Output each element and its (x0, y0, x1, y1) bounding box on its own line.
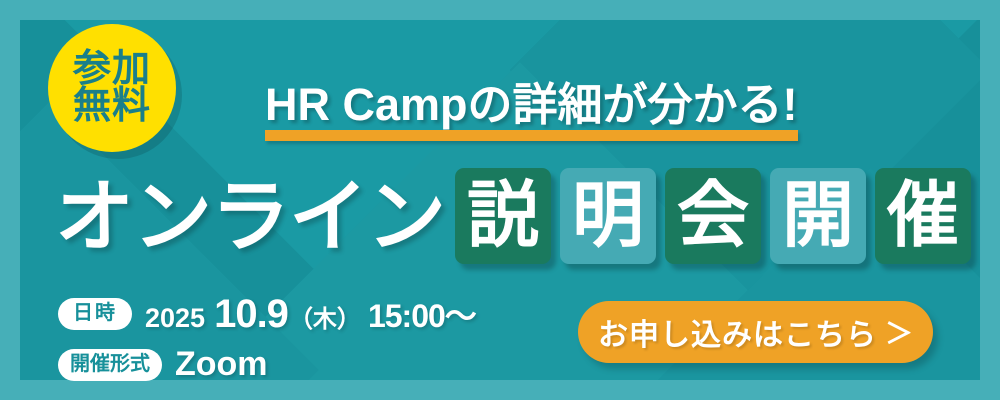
kanji-box-kai: 会 (665, 168, 761, 264)
main-title-kanji-boxes: 説 明 会 開 催 (455, 168, 971, 264)
main-title-plain-text: オンライン (55, 177, 445, 256)
event-info-block: 日時 2025 10.9 （木） 15:00〜 開催形式 Zoom (58, 291, 476, 392)
apply-now-button[interactable]: お申し込みはこちら ＞ (578, 301, 933, 363)
apply-now-button-label: お申し込みはこちら (598, 310, 877, 354)
free-participation-badge: 参加 無料 (48, 24, 176, 152)
datetime-label-pill: 日時 (58, 298, 132, 330)
kanji-box-sai: 催 (875, 168, 971, 264)
headline-container: HR Campの詳細が分かる! (265, 68, 798, 137)
event-year: 2025 (145, 303, 205, 334)
datetime-value: 2025 10.9 （木） 15:00〜 (145, 291, 476, 337)
format-label-pill: 開催形式 (58, 349, 162, 381)
chevron-right-icon: ＞ (885, 312, 913, 352)
event-date: 10.9 (214, 292, 288, 337)
free-badge-line-1: 参加 (73, 51, 151, 88)
headline-underline (265, 130, 798, 141)
event-format-row: 開催形式 Zoom (58, 345, 476, 384)
event-day-of-week: （木） (289, 299, 361, 334)
promo-banner: 参加 無料 HR Campの詳細が分かる! オンライン 説 明 会 開 催 日時… (0, 0, 1000, 400)
free-badge-line-2: 無料 (73, 88, 151, 125)
kanji-box-setsu: 説 (455, 168, 551, 264)
event-datetime-row: 日時 2025 10.9 （木） 15:00〜 (58, 291, 476, 337)
background-diamond-shape (510, 20, 980, 310)
event-platform: Zoom (175, 345, 268, 384)
event-start-time: 15:00〜 (368, 291, 476, 337)
kanji-box-kai-open: 開 (770, 168, 866, 264)
kanji-box-mei: 明 (560, 168, 656, 264)
main-title: オンライン 説 明 会 開 催 (55, 168, 971, 264)
format-value: Zoom (175, 345, 268, 384)
headline-text: HR Campの詳細が分かる! (265, 68, 798, 137)
